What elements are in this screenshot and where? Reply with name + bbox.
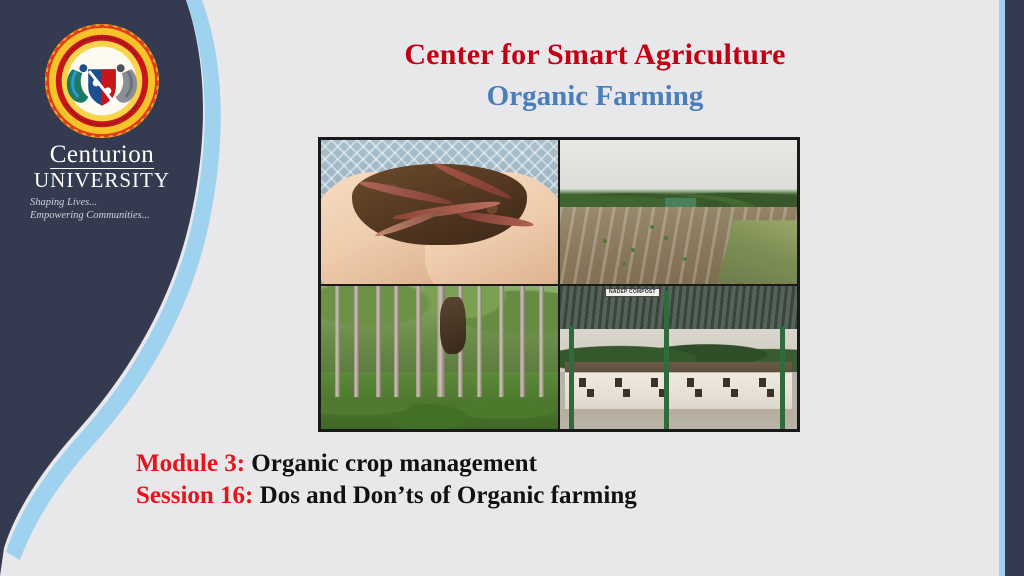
university-branding: Centurion UNIVERSITY Shaping Lives... Em… bbox=[26, 22, 178, 222]
brand-name-primary: Centurion bbox=[50, 142, 155, 169]
photo-nadep-compost-unit: NADEP COMPOST bbox=[560, 286, 797, 430]
photo-tree-plantation bbox=[321, 286, 558, 430]
photo-earthworms-in-compost bbox=[321, 140, 558, 284]
module-caption: Module 3: Organic crop management bbox=[136, 450, 537, 478]
photo-collage: NADEP COMPOST bbox=[318, 137, 800, 432]
brand-tagline: Shaping Lives... Empowering Communities.… bbox=[26, 196, 178, 222]
brand-tagline-line1: Shaping Lives... bbox=[30, 196, 178, 209]
photo-organic-crop-field bbox=[560, 140, 797, 284]
module-label: Module 3: bbox=[136, 450, 245, 477]
session-label: Session 16: bbox=[136, 482, 253, 509]
centurion-university-emblem-icon bbox=[43, 22, 161, 140]
brand-tagline-line2: Empowering Communities... bbox=[30, 209, 178, 222]
module-title: Organic crop management bbox=[251, 450, 537, 477]
page-subtitle: Organic Farming bbox=[200, 80, 990, 113]
page-title: Center for Smart Agriculture bbox=[200, 38, 990, 72]
right-edge-navy-band bbox=[1005, 0, 1024, 576]
session-caption: Session 16: Dos and Don’ts of Organic fa… bbox=[136, 482, 637, 510]
nadep-compost-sign: NADEP COMPOST bbox=[605, 288, 660, 297]
brand-name-secondary: UNIVERSITY bbox=[26, 170, 178, 191]
slide-canvas: Centurion UNIVERSITY Shaping Lives... Em… bbox=[0, 0, 1024, 576]
session-title: Dos and Don’ts of Organic farming bbox=[260, 482, 637, 509]
